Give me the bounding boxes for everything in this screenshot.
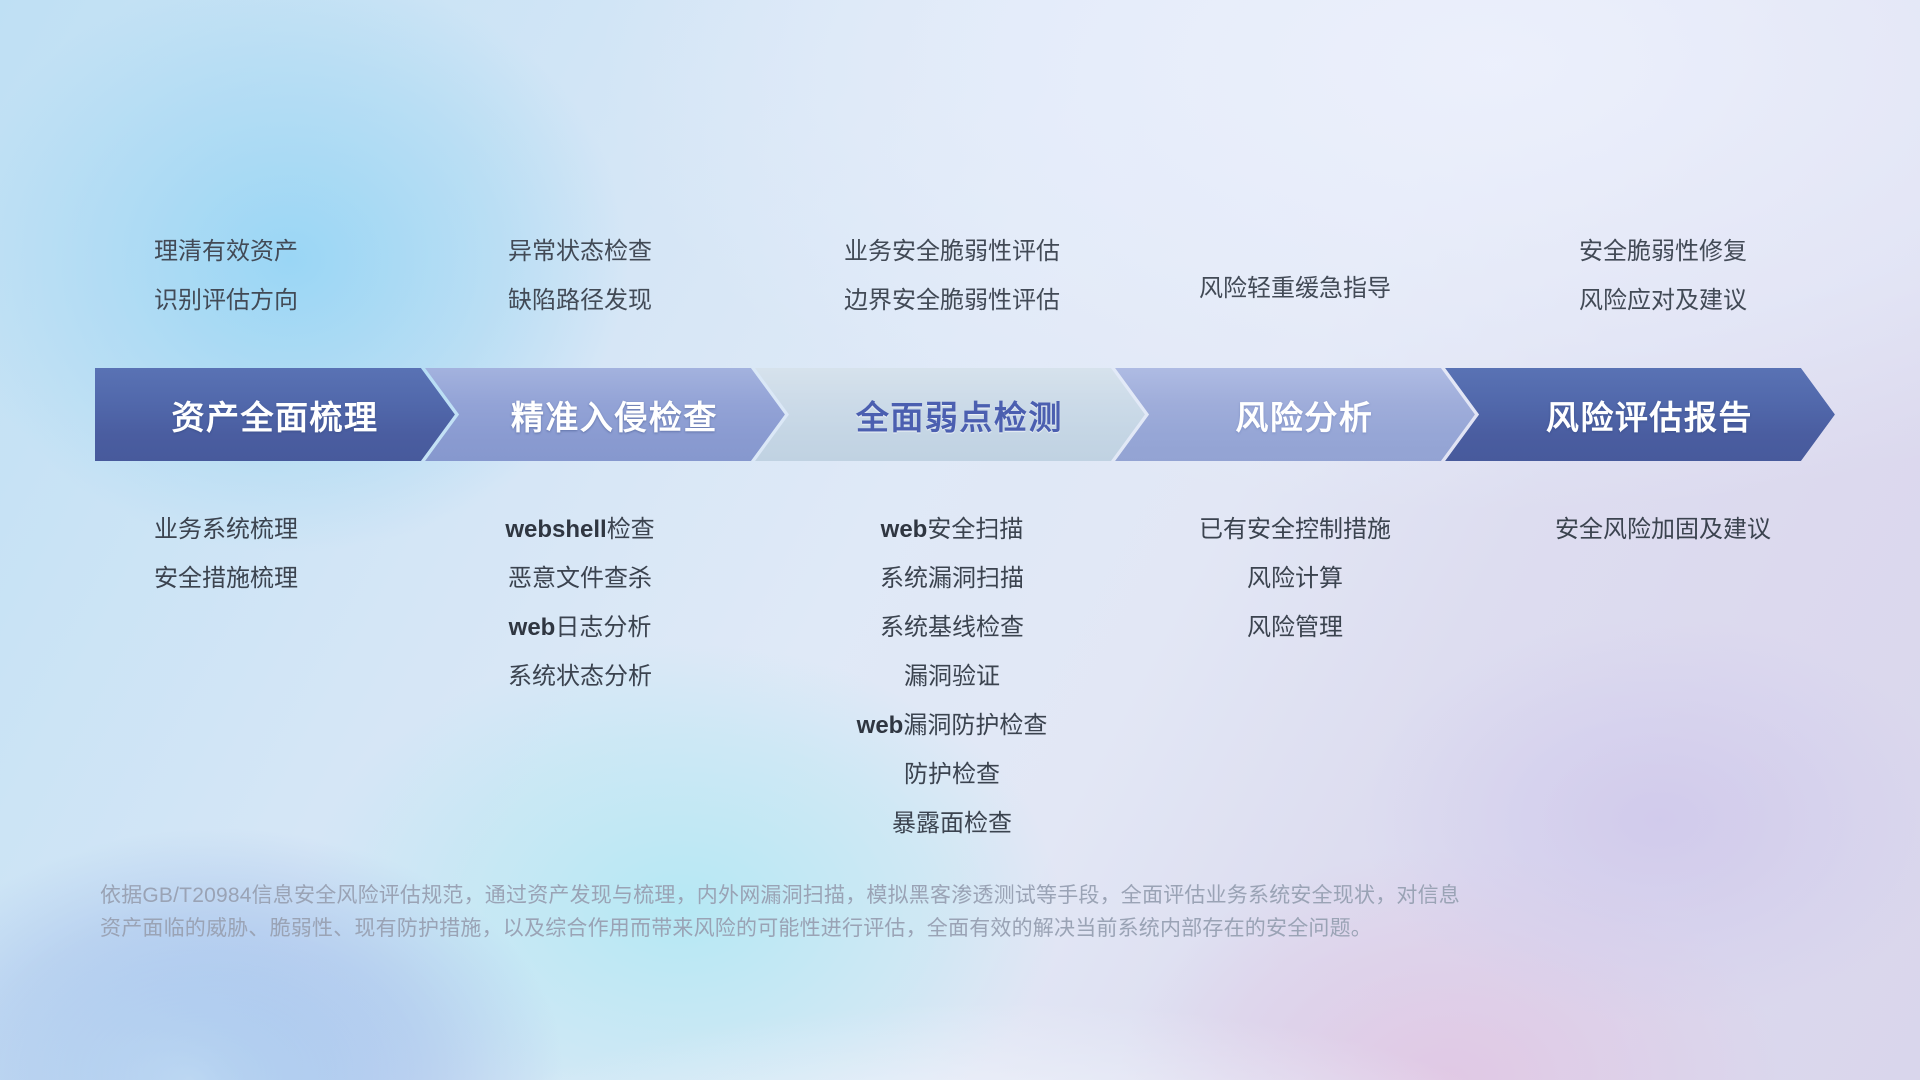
bottom-label: 漏洞验证 (652, 665, 1252, 689)
bottom-label: 防护检查 (652, 763, 1252, 787)
chevron-stage-risk-analysis[interactable]: 风险分析 (1115, 368, 1475, 461)
chevron-stage-weakness-detection[interactable]: 全面弱点检测 (755, 368, 1145, 461)
stage-bottom-labels-risk-report: 安全风险加固及建议 (1363, 518, 1920, 542)
chevron-label: 全面弱点检测 (755, 391, 1145, 439)
chevron-label: 精准入侵检查 (425, 391, 785, 439)
bottom-label: 风险管理 (995, 616, 1595, 640)
top-label: 业务安全脆弱性评估 (652, 240, 1252, 264)
chevron-stage-asset-inventory[interactable]: 资产全面梳理 (95, 368, 455, 461)
process-flow-diagram: 理清有效资产 识别评估方向 异常状态检查 缺陷路径发现 业务安全脆弱性评估 边界… (0, 0, 1920, 1080)
bottom-label: 安全风险加固及建议 (1363, 518, 1920, 542)
bottom-label: 暴露面检查 (652, 812, 1252, 836)
top-label: 风险应对及建议 (1363, 289, 1920, 313)
footer-line-2: 资产面临的威胁、脆弱性、现有防护措施，以及综合作用而带来风险的可能性进行评估，全… (100, 913, 1660, 946)
chevron-stage-intrusion-check[interactable]: 精准入侵检查 (425, 368, 785, 461)
stage-chevron-banner: 资产全面梳理 精准入侵检查 全面弱点检测 风险分析 风险评估报告 (95, 368, 1835, 461)
stage-top-labels-risk-report: 安全脆弱性修复 风险应对及建议 (1363, 240, 1920, 313)
bottom-label-keyword: web (857, 712, 904, 739)
bottom-label-keyword: web (881, 516, 928, 543)
chevron-stage-risk-report[interactable]: 风险评估报告 (1445, 368, 1835, 461)
bottom-label: 风险计算 (995, 567, 1595, 591)
chevron-label: 风险评估报告 (1445, 391, 1835, 439)
chevron-label: 风险分析 (1115, 391, 1475, 439)
chevron-label: 资产全面梳理 (95, 391, 455, 439)
top-label: 安全脆弱性修复 (1363, 240, 1920, 264)
footer-line-1: 依据GB/T20984信息安全风险评估规范，通过资产发现与梳理，内外网漏洞扫描，… (100, 880, 1660, 913)
bottom-label-keyword: webshell (505, 516, 606, 543)
bottom-label-keyword: web (509, 614, 556, 641)
footer-note: 依据GB/T20984信息安全风险评估规范，通过资产发现与梳理，内外网漏洞扫描，… (100, 880, 1660, 945)
bottom-label: web漏洞防护检查 (652, 714, 1252, 738)
